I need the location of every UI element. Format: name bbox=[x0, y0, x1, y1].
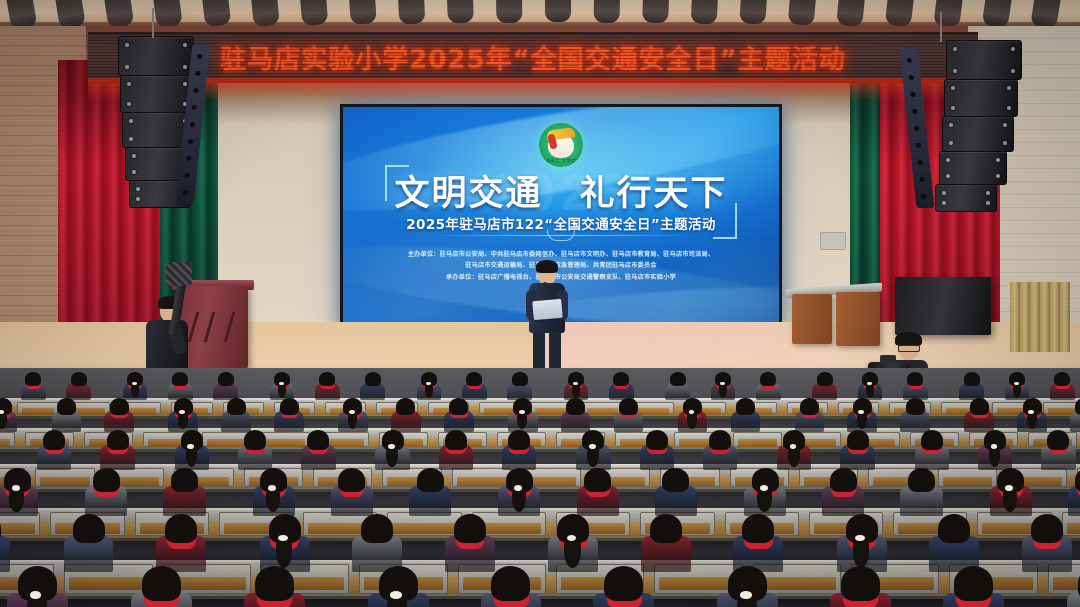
student-head bbox=[244, 430, 266, 450]
student-head bbox=[662, 468, 689, 492]
student-audience-member bbox=[650, 514, 682, 580]
operator-right-hair bbox=[895, 332, 922, 346]
student-audience-member bbox=[142, 566, 181, 607]
screen-headline: 文明交通 礼行天下 bbox=[343, 165, 779, 216]
speaker-bolt bbox=[183, 82, 187, 86]
hair-tie bbox=[1005, 485, 1013, 490]
student-head bbox=[449, 398, 468, 415]
student-head bbox=[1031, 514, 1063, 543]
student-head bbox=[73, 514, 105, 543]
student-head bbox=[218, 372, 234, 386]
student-head bbox=[1075, 468, 1080, 492]
speaker-wing-hole bbox=[919, 177, 925, 182]
speaker-bolt bbox=[136, 187, 140, 191]
speaker-bolt bbox=[951, 106, 955, 110]
ceiling-beam bbox=[836, 0, 865, 27]
student-uniform bbox=[0, 536, 10, 572]
hair-tie bbox=[279, 382, 284, 385]
speaker-bolt bbox=[132, 154, 136, 158]
speaker-cabinet bbox=[118, 36, 194, 76]
student-audience-member bbox=[73, 514, 105, 580]
hair-tie bbox=[573, 382, 578, 385]
student-head bbox=[71, 372, 87, 386]
student-head bbox=[466, 372, 482, 386]
speaker-bolt bbox=[125, 43, 129, 47]
ceiling-beam bbox=[691, 0, 718, 24]
student-audience-member bbox=[255, 566, 294, 607]
student-audience-member bbox=[783, 430, 805, 484]
student-head bbox=[650, 514, 682, 543]
student-audience-member bbox=[25, 372, 41, 418]
student-head bbox=[255, 566, 294, 601]
student-audience-member bbox=[43, 430, 65, 484]
speaker-bolt bbox=[183, 65, 187, 69]
student-audience-member bbox=[709, 430, 731, 484]
speaker-wing-hole bbox=[921, 194, 927, 199]
ceiling-beam bbox=[496, 0, 522, 23]
speaker-wing-hole bbox=[193, 88, 199, 93]
hair-tie bbox=[179, 410, 185, 414]
speaker-bolt bbox=[946, 158, 950, 162]
speaker-bolt bbox=[127, 82, 131, 86]
student-head bbox=[338, 468, 365, 492]
student-head bbox=[830, 468, 857, 492]
student-audience-member bbox=[0, 398, 12, 448]
speaker-wing-hole bbox=[907, 58, 913, 63]
student-head bbox=[800, 398, 819, 415]
student-audience-member bbox=[619, 398, 638, 448]
student-uniform bbox=[1067, 593, 1080, 607]
ceiling-beam bbox=[153, 0, 183, 28]
hair-tie bbox=[720, 382, 725, 385]
speaker-bolt bbox=[1007, 86, 1011, 90]
speaker-cabinet bbox=[946, 40, 1022, 80]
student-audience-member bbox=[760, 372, 776, 418]
student-audience-member bbox=[1047, 430, 1069, 484]
seat-wood-inlay bbox=[526, 477, 575, 486]
student-head bbox=[584, 468, 611, 492]
student-head bbox=[280, 398, 299, 415]
student-audience-member bbox=[728, 566, 767, 607]
speaker-wing-hole bbox=[916, 143, 922, 148]
student-head bbox=[142, 566, 181, 601]
student-head bbox=[445, 430, 467, 450]
speaker-bolt bbox=[125, 65, 129, 69]
speaker-cabinet bbox=[939, 151, 1007, 185]
speaker-bolt bbox=[129, 137, 133, 141]
student-head bbox=[172, 372, 188, 386]
student-audience-member bbox=[280, 398, 299, 448]
student-audience-member bbox=[319, 372, 335, 418]
audience-area bbox=[0, 368, 1080, 607]
speaker-cabinet bbox=[120, 75, 194, 113]
student-head bbox=[760, 372, 776, 386]
student-head bbox=[227, 398, 246, 415]
student-audience-member bbox=[715, 372, 731, 418]
ceiling-beam bbox=[349, 0, 377, 25]
ceiling-beam bbox=[788, 0, 816, 26]
speaker-rigging-cable bbox=[152, 8, 154, 38]
ceiling-beam bbox=[300, 0, 328, 26]
student-audience-member bbox=[365, 372, 381, 418]
student-head bbox=[1047, 430, 1069, 450]
student-audience-member bbox=[736, 398, 755, 448]
line-array-speaker-left bbox=[118, 36, 238, 216]
black-cabinet bbox=[895, 277, 991, 335]
speaker-folder bbox=[532, 299, 563, 320]
auditorium-photo: 驻马店实验小学2025年“全国交通安全日”主题活动 2025 交通安全 文明出行… bbox=[0, 0, 1080, 607]
speaker-bolt bbox=[996, 174, 1000, 178]
student-audience-member bbox=[379, 566, 418, 607]
student-audience-member bbox=[491, 566, 530, 607]
microphone-icon bbox=[543, 282, 547, 295]
student-head bbox=[93, 468, 120, 492]
speaker-bolt bbox=[129, 119, 133, 123]
speaker-rigging-cable bbox=[940, 12, 942, 42]
hair-tie bbox=[187, 444, 194, 448]
logo-caption: 交通安全 文明出行 bbox=[539, 158, 583, 164]
student-head bbox=[508, 430, 530, 450]
speaker-wing-hole bbox=[910, 92, 916, 97]
student-audience-member bbox=[683, 398, 702, 448]
student-head bbox=[604, 566, 643, 601]
student-head bbox=[566, 398, 585, 415]
student-head bbox=[1075, 398, 1080, 415]
speaker-wing-hole bbox=[914, 126, 920, 131]
speaker-bolt bbox=[949, 141, 953, 145]
student-head bbox=[619, 398, 638, 415]
hair-tie bbox=[278, 535, 288, 541]
student-head bbox=[110, 398, 129, 415]
student-head bbox=[512, 372, 528, 386]
student-audience-member bbox=[421, 372, 437, 418]
student-head bbox=[954, 566, 993, 601]
hair-tie bbox=[1028, 410, 1034, 414]
student-audience-member bbox=[307, 430, 329, 484]
hair-tie bbox=[589, 444, 596, 448]
student-audience-member bbox=[1075, 398, 1080, 448]
student-audience-member bbox=[1075, 468, 1080, 528]
ceiling-beam bbox=[251, 0, 280, 27]
student-audience-member bbox=[417, 468, 444, 528]
student-head bbox=[361, 514, 393, 543]
wall-plate-icon bbox=[820, 232, 846, 250]
speaker-wing-hole bbox=[186, 156, 192, 161]
stacked-desk-1 bbox=[792, 294, 832, 344]
student-head bbox=[57, 398, 76, 415]
student-head bbox=[921, 430, 943, 450]
speaker-cabinet bbox=[944, 79, 1018, 117]
speaker-bolt bbox=[136, 197, 140, 201]
student-audience-member bbox=[382, 430, 404, 484]
stacked-desk-2 bbox=[836, 292, 880, 346]
student-head bbox=[491, 566, 530, 601]
student-head bbox=[736, 398, 755, 415]
hair-tie bbox=[991, 444, 998, 448]
student-head bbox=[25, 372, 41, 386]
speaker-bolt bbox=[1011, 69, 1015, 73]
speaker-wing-hole bbox=[195, 71, 201, 76]
student-head bbox=[817, 372, 833, 386]
speaker-bolt bbox=[942, 191, 946, 195]
student-audience-member bbox=[506, 468, 533, 528]
student-audience-member bbox=[604, 566, 643, 607]
ceiling-beam bbox=[545, 0, 571, 22]
student-head bbox=[646, 430, 668, 450]
student-head bbox=[365, 372, 381, 386]
student-head bbox=[107, 430, 129, 450]
hair-tie bbox=[349, 410, 355, 414]
hair-tie bbox=[790, 444, 797, 448]
speaker-wing-hole bbox=[188, 139, 194, 144]
student-head bbox=[43, 430, 65, 450]
screen-divider-rule bbox=[431, 235, 691, 236]
ceiling-beam bbox=[642, 0, 669, 24]
student-audience-member bbox=[1031, 514, 1063, 580]
student-head bbox=[709, 430, 731, 450]
speaker-wing-hole bbox=[917, 160, 923, 165]
gold-drape bbox=[1010, 282, 1070, 352]
hair-tie bbox=[390, 591, 402, 599]
student-head bbox=[906, 398, 925, 415]
student-head bbox=[171, 468, 198, 492]
hair-tie bbox=[12, 485, 20, 490]
speaker-wing-hole bbox=[912, 109, 918, 114]
speaker-bolt bbox=[942, 201, 946, 205]
event-logo-icon: 交通安全 文明出行 bbox=[539, 123, 583, 167]
speaker-bolt bbox=[1003, 123, 1007, 127]
student-audience-member bbox=[1054, 372, 1070, 418]
podium-accent-2 bbox=[204, 312, 216, 342]
student-audience-member bbox=[445, 430, 467, 484]
speaker-bolt bbox=[127, 102, 131, 106]
speaker-bolt bbox=[986, 191, 990, 195]
hair-tie bbox=[30, 591, 42, 599]
student-audience-member bbox=[227, 398, 246, 448]
student-head bbox=[907, 372, 923, 386]
speaker-bolt bbox=[949, 123, 953, 127]
speaker-flying-wing bbox=[900, 48, 935, 208]
led-banner-text: 驻马店实验小学2025年“全国交通安全日”主题活动 bbox=[220, 39, 846, 76]
speaker-hair bbox=[536, 260, 558, 273]
speaker-cabinet bbox=[942, 116, 1014, 152]
hair-tie bbox=[867, 382, 872, 385]
hair-tie bbox=[388, 444, 395, 448]
student-audience-member bbox=[908, 468, 935, 528]
camera-head-icon bbox=[166, 262, 192, 286]
speaker-bolt bbox=[1011, 47, 1015, 51]
student-head bbox=[908, 468, 935, 492]
ceiling-beam bbox=[739, 0, 767, 25]
ceiling-beam bbox=[594, 0, 620, 23]
speaker-wing-hole bbox=[191, 105, 197, 110]
speaker-cabinet bbox=[935, 184, 997, 212]
speaker-wing-hole bbox=[197, 54, 203, 59]
hair-tie bbox=[514, 485, 522, 490]
student-head bbox=[319, 372, 335, 386]
podium-accent-3 bbox=[224, 312, 236, 342]
student-head bbox=[1054, 372, 1070, 386]
student-head bbox=[841, 566, 880, 601]
seat-wood-inlay bbox=[638, 408, 669, 414]
speaker-wing-hole bbox=[908, 75, 914, 80]
speaker-bolt bbox=[951, 86, 955, 90]
student-audience-member bbox=[4, 468, 31, 528]
hair-tie bbox=[426, 382, 431, 385]
speaker-bolt bbox=[946, 174, 950, 178]
line-array-speaker-right bbox=[900, 40, 1020, 220]
student-head bbox=[670, 372, 686, 386]
hair-tie bbox=[740, 591, 752, 599]
speaker-bolt bbox=[953, 47, 957, 51]
student-audience-member bbox=[997, 468, 1024, 528]
student-audience-member bbox=[0, 514, 1, 580]
student-head bbox=[417, 468, 444, 492]
student-audience-member bbox=[454, 514, 486, 580]
speaker-bolt bbox=[986, 201, 990, 205]
glasses-icon bbox=[898, 345, 920, 352]
ceiling-beam bbox=[398, 0, 425, 24]
speaker-bolt bbox=[1007, 106, 1011, 110]
ceiling-beam bbox=[447, 0, 474, 24]
hair-tie bbox=[132, 382, 137, 385]
speaker-bolt bbox=[183, 43, 187, 47]
student-head bbox=[847, 430, 869, 450]
student-audience-member bbox=[954, 566, 993, 607]
speaker-bolt bbox=[996, 158, 1000, 162]
student-head bbox=[970, 398, 989, 415]
hair-tie bbox=[760, 485, 768, 490]
student-audience-member bbox=[841, 566, 880, 607]
hair-tie bbox=[268, 485, 276, 490]
student-head bbox=[613, 372, 629, 386]
student-head bbox=[454, 514, 486, 543]
speaker-bolt bbox=[953, 69, 957, 73]
student-head bbox=[964, 372, 980, 386]
speaker-wing-hole bbox=[190, 122, 196, 127]
speaker-wing-hole bbox=[183, 190, 189, 195]
student-audience-member bbox=[557, 514, 589, 580]
student-audience-member bbox=[18, 566, 57, 607]
speaker-wing-hole bbox=[184, 173, 190, 178]
hair-tie bbox=[519, 410, 525, 414]
student-head bbox=[938, 514, 970, 543]
student-audience-member bbox=[343, 398, 362, 448]
camera-viewfinder bbox=[880, 355, 896, 363]
student-head bbox=[165, 514, 197, 543]
student-head bbox=[396, 398, 415, 415]
student-head bbox=[742, 514, 774, 543]
student-audience-member bbox=[1023, 398, 1042, 448]
hair-tie bbox=[1014, 382, 1019, 385]
speaker-bolt bbox=[132, 170, 136, 174]
student-head bbox=[307, 430, 329, 450]
speaker-bolt bbox=[1003, 141, 1007, 145]
